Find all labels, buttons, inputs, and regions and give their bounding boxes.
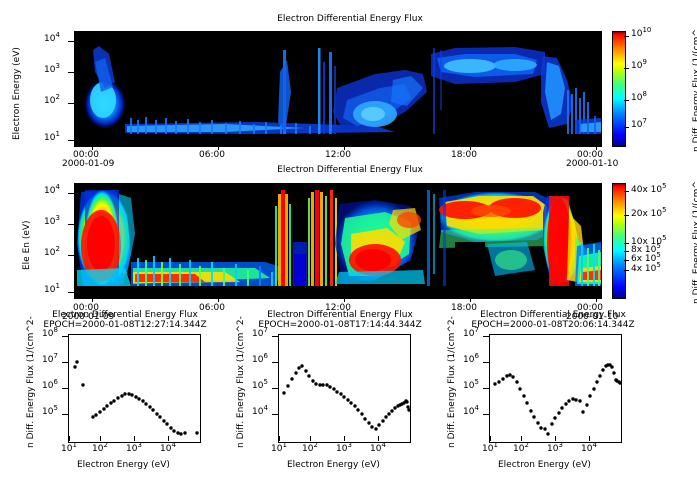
bottom1-title: Electron Differential Energy Flux	[35, 310, 215, 320]
bottom1-subtitle: EPOCH=2000-01-08T12:27:14.344Z	[30, 320, 220, 330]
panel2-colorbar-label: n Diff. Energy Flux (1/(cm^	[692, 181, 697, 304]
panel1-cbar-tick-7: 107	[631, 120, 647, 130]
bottom2-xtick-4: 104	[370, 444, 386, 454]
bottom1-x-axis-label: Electron Energy (eV)	[77, 460, 170, 470]
bottom3-xtick-1: 101	[482, 444, 498, 454]
bottom1-y-axis-label: n Diff. Energy Flux (1/(cm^2-	[26, 316, 36, 448]
bottom1-ytick-7: 107	[42, 355, 58, 365]
bottom1-xtick-4: 104	[160, 444, 176, 454]
bottom1-scatter	[69, 335, 200, 442]
bottom2-xtick-1: 101	[271, 444, 287, 454]
bottom1-ytick-5: 105	[42, 407, 58, 417]
bottom3-ytick-4: 104	[463, 407, 479, 417]
bottom2-x-axis-label: Electron Energy (eV)	[287, 460, 380, 470]
panel2-cbar-tick-4: 4x 105	[631, 264, 661, 274]
panel1-title: Electron Differential Energy Flux	[200, 14, 500, 24]
bottom3-xtick-2: 102	[513, 444, 529, 454]
bottom1-ytick-8: 108	[42, 329, 58, 339]
bottom3-ytick-7: 107	[463, 329, 479, 339]
bottom3-xtick-4: 104	[581, 444, 597, 454]
bottom2-ytick-7: 107	[252, 329, 268, 339]
panel1-xtick-2: 12:00	[325, 150, 351, 160]
bottom1-xtick-2: 102	[92, 444, 108, 454]
bottom3-x-axis-label: Electron Energy (eV)	[498, 460, 591, 470]
bottom2-ytick-4: 104	[252, 407, 268, 417]
panel2-ytick-1: 101	[44, 285, 60, 295]
bottom2-title: Electron Differential Energy Flux	[250, 310, 430, 320]
panel1-xtick-3: 18:00	[451, 150, 477, 160]
bottom3-plot-area	[489, 334, 622, 443]
panel2-ytick-2: 102	[44, 248, 60, 258]
panel2-colorbar	[612, 183, 626, 299]
panel1-xdate-left: 2000-01-09	[62, 159, 114, 169]
panel1-cbar-tick-10: 1010	[631, 29, 651, 39]
panel2-ytick-3: 103	[44, 217, 60, 227]
panel1-ytick-1: 101	[44, 133, 60, 143]
bottom2-xtick-2: 102	[302, 444, 318, 454]
panel1-cbar-tick-9: 109	[631, 61, 647, 71]
panel1-ytick-3: 103	[44, 65, 60, 75]
panel2-cbar-tick-40: 40x 105	[631, 185, 667, 195]
panel1-y-axis-label: Electron Energy (eV)	[12, 47, 22, 140]
bottom3-ytick-5: 105	[463, 381, 479, 391]
panel1-xdate-right: 2000-01-10	[566, 159, 618, 169]
panel1-spectrogram-image	[75, 32, 601, 146]
panel1-cbar-tick-8: 108	[631, 93, 647, 103]
bottom2-subtitle: EPOCH=2000-01-08T17:14:44.344Z	[245, 320, 435, 330]
bottom2-y-axis-label: n Diff. Energy Flux (1/(cm^2-	[236, 316, 246, 448]
panel2-y-axis-label: Ele En (eV)	[22, 220, 32, 270]
bottom2-ytick-6: 106	[252, 355, 268, 365]
bottom3-xtick-3: 103	[547, 444, 563, 454]
panel1-xtick-1: 06:00	[199, 150, 225, 160]
panel1-ytick-4: 104	[44, 34, 60, 44]
bottom3-title: Electron Differential Energy Flux	[463, 310, 643, 320]
bottom1-plot-area	[68, 334, 201, 443]
bottom1-ytick-6: 106	[42, 381, 58, 391]
bottom2-plot-area	[278, 334, 411, 443]
bottom2-ytick-5: 105	[252, 381, 268, 391]
bottom3-subtitle: EPOCH=2000-01-08T20:06:14.344Z	[458, 320, 648, 330]
bottom3-y-axis-label: n Diff. Energy Flux (1/(cm^2-	[447, 316, 457, 448]
panel2-ytick-4: 104	[44, 186, 60, 196]
bottom1-xtick-1: 101	[61, 444, 77, 454]
bottom2-scatter	[279, 335, 410, 442]
bottom3-ytick-6: 106	[463, 355, 479, 365]
panel2-spectrogram-image	[75, 184, 601, 298]
panel1-ytick-2: 102	[44, 96, 60, 106]
bottom1-xtick-3: 103	[126, 444, 142, 454]
panel2-plot-area	[74, 183, 602, 299]
panel1-plot-area	[74, 31, 602, 147]
panel1-colorbar	[612, 31, 626, 147]
panel2-title: Electron Differential Energy Flux	[200, 165, 500, 175]
bottom3-scatter	[490, 335, 621, 442]
panel2-cbar-tick-20: 20x 105	[631, 209, 667, 219]
bottom2-xtick-3: 103	[336, 444, 352, 454]
panel1-colorbar-label: n Diff. Energy Flux (1/(cm^	[692, 29, 697, 152]
